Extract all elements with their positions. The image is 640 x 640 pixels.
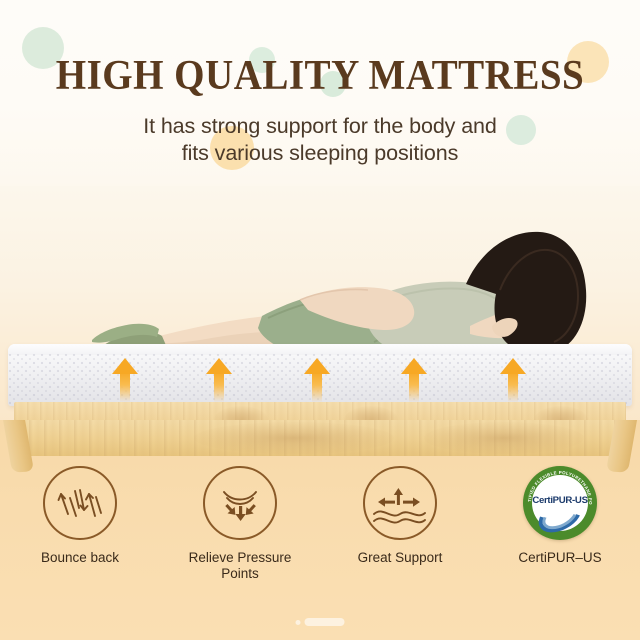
certipur-wordmark: CertiPUR-US bbox=[523, 495, 597, 506]
feature-label: Relieve Pressure Points bbox=[180, 550, 300, 582]
pagination-active-bar[interactable] bbox=[305, 618, 345, 626]
mattress-scene bbox=[0, 186, 640, 434]
feature-label: Great Support bbox=[358, 550, 443, 566]
support-arrow-icon bbox=[206, 358, 232, 402]
header-section: HIGH QUALITY MATTRESS It has strong supp… bbox=[0, 0, 640, 190]
great-support-circle bbox=[363, 466, 437, 540]
feature-label: Bounce back bbox=[41, 550, 119, 566]
relieve-pressure-icon bbox=[215, 480, 265, 526]
support-arrow-icon bbox=[500, 358, 526, 402]
support-arrow-icon bbox=[401, 358, 427, 402]
bounce-back-icon bbox=[55, 480, 105, 526]
bounce-back-circle bbox=[43, 466, 117, 540]
subtitle-line-1: It has strong support for the body and bbox=[0, 113, 640, 140]
feature-label: CertiPUR–US bbox=[518, 550, 601, 566]
page-title: HIGH QUALITY MATTRESS bbox=[22, 52, 617, 100]
feature-bounce-back[interactable]: Bounce back bbox=[0, 466, 160, 566]
product-infographic: HIGH QUALITY MATTRESS It has strong supp… bbox=[0, 0, 640, 640]
pagination-dot[interactable] bbox=[296, 620, 301, 625]
pagination-indicator[interactable] bbox=[296, 618, 345, 626]
relieve-pressure-circle bbox=[203, 466, 277, 540]
page-subtitle: It has strong support for the body and f… bbox=[0, 113, 640, 167]
feature-row: Bounce back bbox=[0, 466, 640, 596]
mattress bbox=[8, 344, 632, 406]
certipur-us-badge-icon: CERTIFIED FLEXIBLE POLYURETHANE FOAM www… bbox=[523, 466, 597, 540]
feature-certipur-us[interactable]: CERTIFIED FLEXIBLE POLYURETHANE FOAM www… bbox=[480, 466, 640, 566]
feature-relieve-pressure-points[interactable]: Relieve Pressure Points bbox=[160, 466, 320, 582]
subtitle-line-2: fits various sleeping positions bbox=[0, 140, 640, 167]
great-support-icon bbox=[372, 478, 428, 528]
support-arrow-icon bbox=[112, 358, 138, 402]
support-arrow-icon bbox=[304, 358, 330, 402]
bed-frame-rail-lower bbox=[14, 420, 626, 456]
feature-great-support[interactable]: Great Support bbox=[320, 466, 480, 566]
